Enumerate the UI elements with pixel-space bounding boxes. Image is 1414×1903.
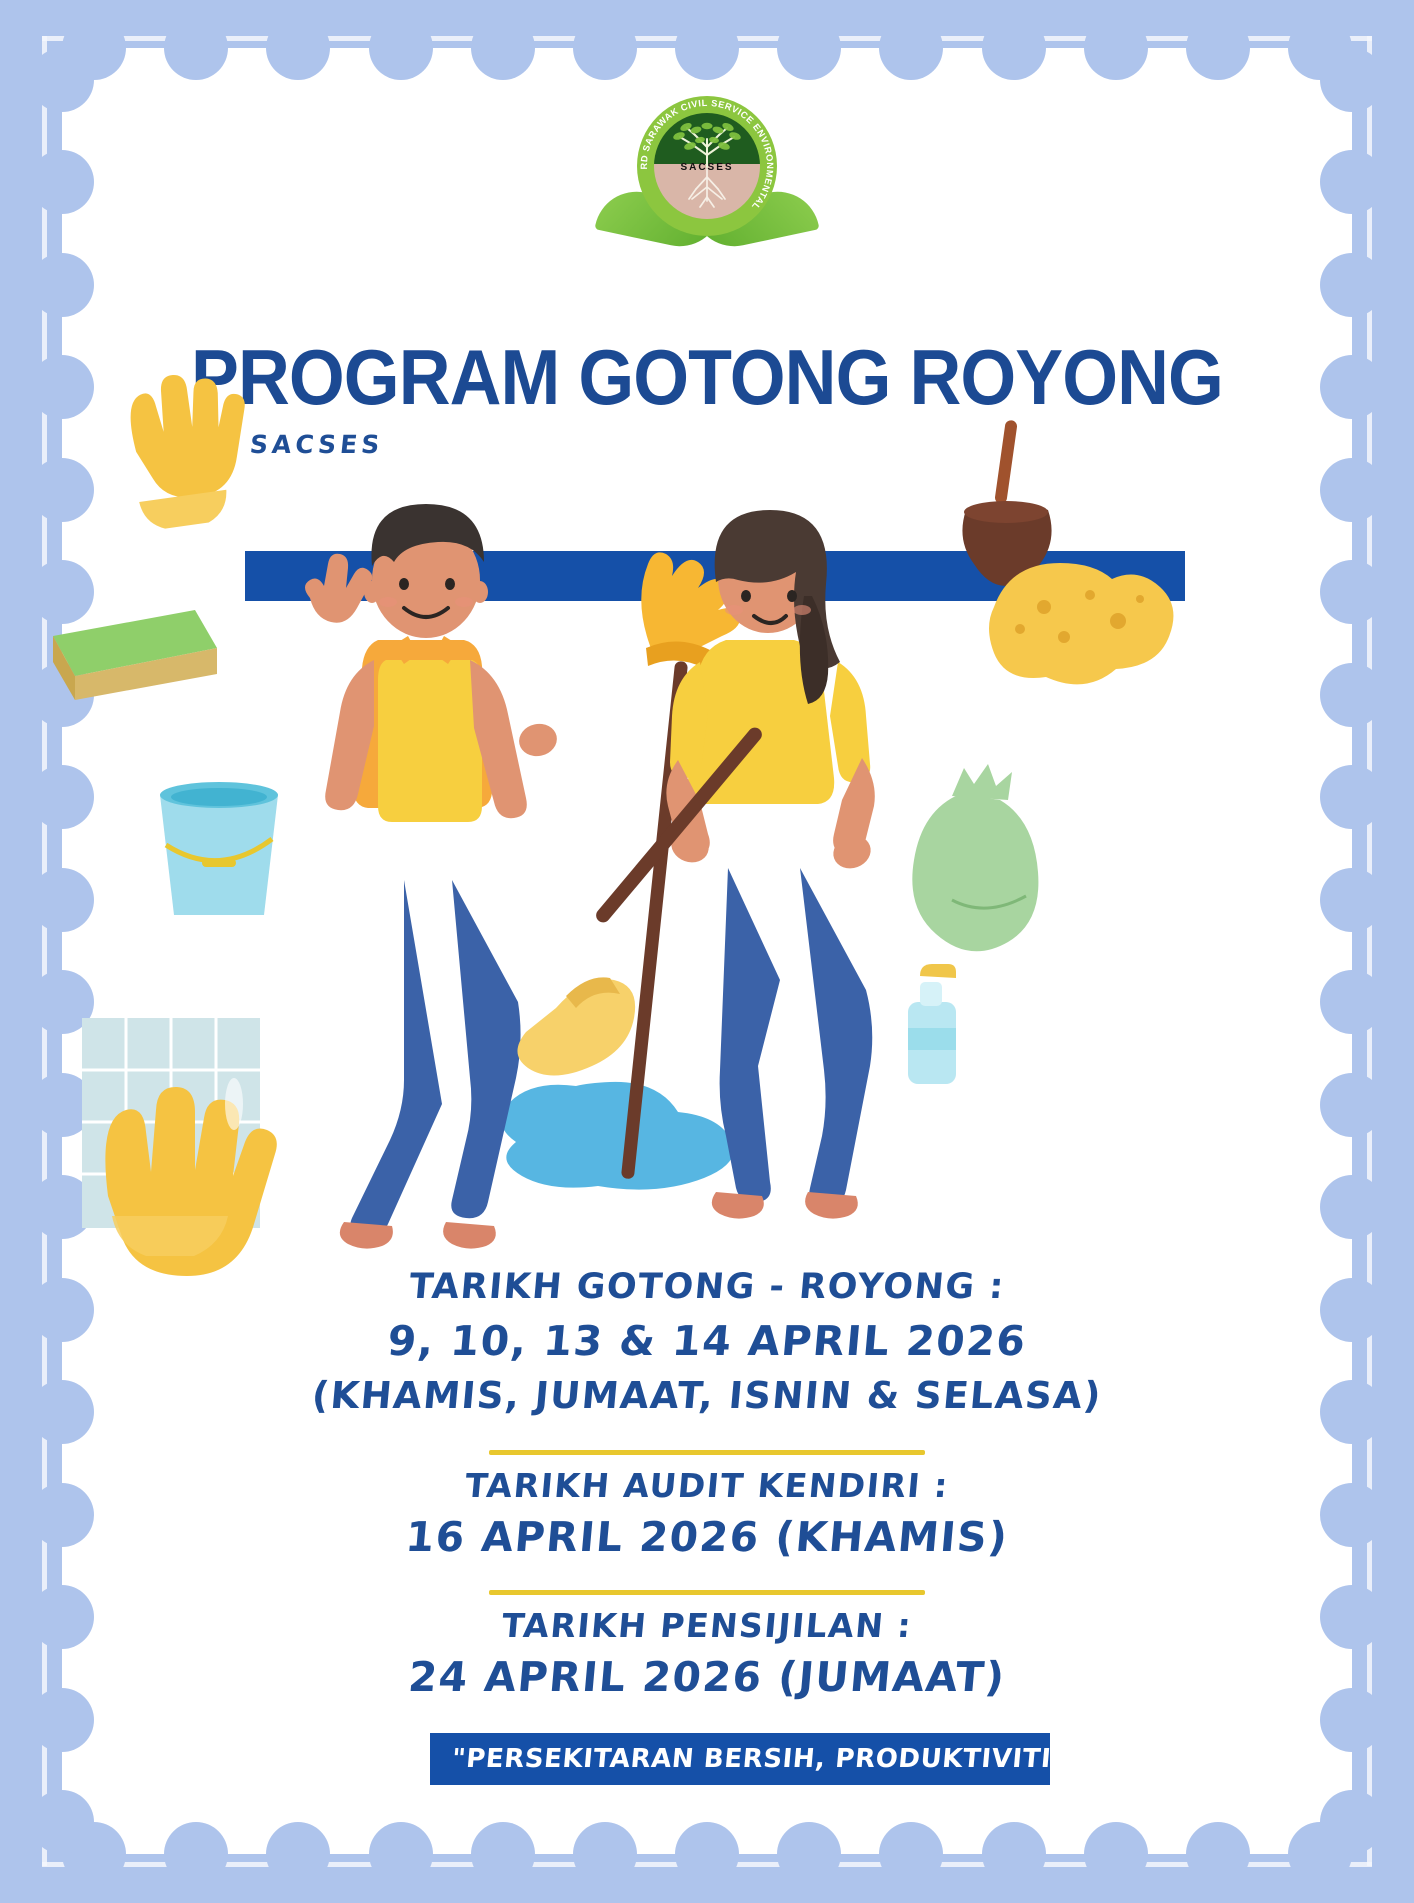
gotong-royong-date: 9, 10, 13 & 14 APRIL 2026 [0, 1313, 1414, 1370]
gotong-royong-label: TARIKH GOTONG - ROYONG : [0, 1262, 1414, 1313]
audit-date: 16 APRIL 2026 (KHAMIS) [0, 1509, 1414, 1566]
sacses-logo: SACSES STANDARD SARAWAK CIVIL SERVICE EN… [602, 96, 812, 246]
poster-root: SACSES STANDARD SARAWAK CIVIL SERVICE EN… [0, 0, 1414, 1903]
frame-rule-bottom [42, 1862, 1372, 1867]
gotong-royong-block: TARIKH GOTONG - ROYONG : 9, 10, 13 & 14 … [0, 1262, 1414, 1422]
logo-ring-text: STANDARD SARAWAK CIVIL SERVICE ENVIRONME… [637, 96, 777, 236]
title-blue-bar [245, 551, 1185, 601]
svg-text:STANDARD SARAWAK CIVIL SERVICE: STANDARD SARAWAK CIVIL SERVICE ENVIRONME… [637, 96, 775, 212]
logo-ring-label: STANDARD SARAWAK CIVIL SERVICE ENVIRONME… [637, 96, 775, 212]
divider-bottom [489, 1590, 925, 1595]
frame-rule-top [42, 36, 1372, 41]
logo-container: SACSES STANDARD SARAWAK CIVIL SERVICE EN… [0, 96, 1414, 246]
tagline-text: "PERSEKITARAN BERSIH, PRODUKTIVITI MENIN… [451, 1744, 1050, 1774]
page-title: PROGRAM GOTONG ROYONG [57, 338, 1358, 416]
certification-date: 24 APRIL 2026 (JUMAAT) [0, 1649, 1414, 1706]
audit-block: TARIKH AUDIT KENDIRI : 16 APRIL 2026 (KH… [0, 1440, 1414, 1567]
page-subtitle: SACSES [248, 430, 384, 459]
certification-block: TARIKH PENSIJILAN : 24 APRIL 2026 (JUMAA… [0, 1580, 1414, 1707]
divider-top [489, 1450, 925, 1455]
gotong-royong-days: (KHAMIS, JUMAAT, ISNIN & SELASA) [0, 1370, 1414, 1422]
tagline-banner: "PERSEKITARAN BERSIH, PRODUKTIVITI MENIN… [430, 1733, 1050, 1785]
certification-label: TARIKH PENSIJILAN : [0, 1603, 1414, 1649]
audit-label: TARIKH AUDIT KENDIRI : [0, 1463, 1414, 1509]
